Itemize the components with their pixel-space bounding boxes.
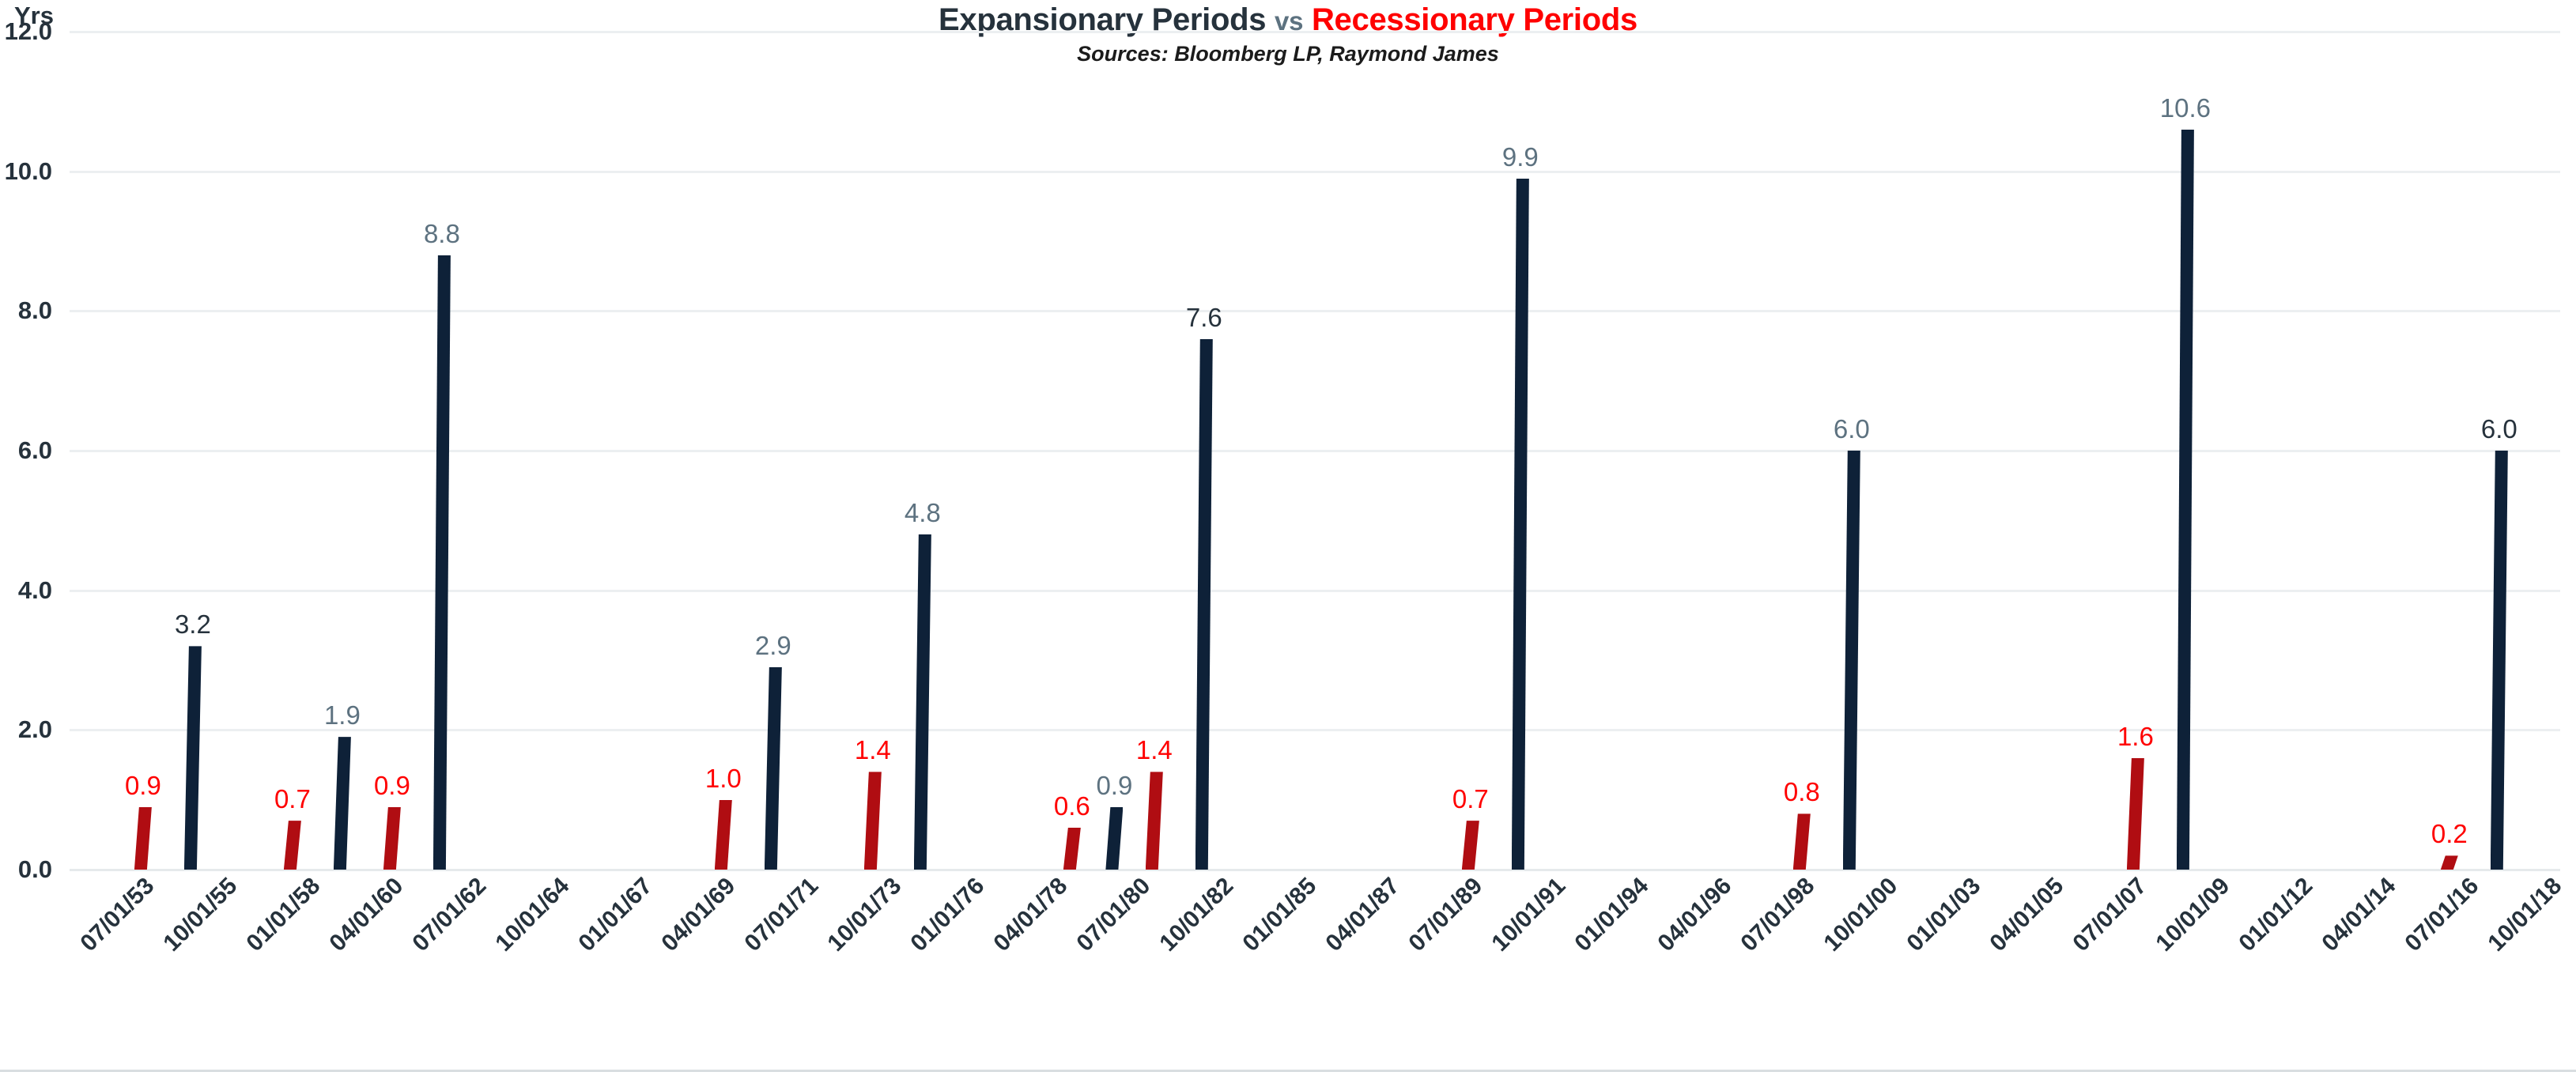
bar-expansion[interactable] bbox=[1105, 807, 1123, 870]
data-label-recession: 0.7 bbox=[274, 784, 311, 814]
x-axis-tick-label: 01/01/76 bbox=[906, 873, 991, 957]
x-axis-ticks: 07/01/5310/01/5501/01/5804/01/6007/01/62… bbox=[70, 873, 2560, 1070]
x-axis-tick-label: 04/01/78 bbox=[989, 873, 1074, 957]
data-label-recession: 1.4 bbox=[855, 735, 891, 765]
bar-expansion[interactable] bbox=[433, 255, 451, 870]
x-axis-tick-label: 01/01/58 bbox=[242, 873, 327, 957]
data-label-expansion: 1.9 bbox=[324, 700, 361, 730]
x-axis-tick-label: 01/01/12 bbox=[2234, 873, 2319, 957]
plot-area: 0.02.04.06.08.010.012.0 0.90.70.91.01.40… bbox=[70, 32, 2560, 870]
x-axis-tick-label: 07/01/98 bbox=[1736, 873, 1821, 957]
x-axis-tick-label: 07/01/16 bbox=[2400, 873, 2485, 957]
bar-expansion[interactable] bbox=[2491, 451, 2508, 870]
data-label-expansion: 0.9 bbox=[1096, 771, 1132, 801]
y-axis-tick-label: 12.0 bbox=[0, 17, 52, 46]
y-axis-tick-label: 0.0 bbox=[0, 855, 52, 884]
x-axis-tick-label: 10/01/00 bbox=[1819, 873, 1904, 957]
bar-expansion[interactable] bbox=[334, 737, 351, 870]
x-axis-tick-label: 04/01/96 bbox=[1653, 873, 1738, 957]
bar-recession[interactable] bbox=[1462, 821, 1479, 870]
bar-expansion[interactable] bbox=[184, 646, 202, 870]
data-label-expansion: 9.9 bbox=[1502, 142, 1539, 172]
bar-recession[interactable] bbox=[1146, 772, 1163, 870]
bar-recession[interactable] bbox=[284, 821, 301, 870]
bar-expansion[interactable] bbox=[1843, 451, 1860, 870]
bar-recession[interactable] bbox=[1063, 828, 1081, 870]
x-axis-tick-label: 04/01/05 bbox=[1985, 873, 2070, 957]
y-axis-tick-label: 10.0 bbox=[0, 157, 52, 186]
x-axis-tick-label: 07/01/80 bbox=[1072, 873, 1157, 957]
x-axis-tick-label: 01/01/94 bbox=[1570, 873, 1655, 957]
data-label-recession: 1.0 bbox=[705, 764, 742, 794]
data-label-recession: 0.9 bbox=[125, 771, 161, 801]
data-label-expansion: 10.6 bbox=[2160, 93, 2211, 123]
data-label-expansion: 7.6 bbox=[1186, 303, 1222, 333]
data-label-recession: 0.6 bbox=[1054, 791, 1090, 821]
data-label-recession: 0.8 bbox=[1784, 777, 1820, 807]
y-axis-tick-label: 6.0 bbox=[0, 436, 52, 465]
data-label-recession: 1.6 bbox=[2117, 722, 2154, 752]
bar-recession[interactable] bbox=[715, 800, 732, 870]
x-axis-tick-label: 10/01/64 bbox=[491, 873, 576, 957]
x-axis-tick-label: 04/01/87 bbox=[1321, 873, 1406, 957]
data-label-expansion: 6.0 bbox=[2481, 414, 2517, 444]
bar-expansion[interactable] bbox=[1195, 339, 1213, 870]
data-label-recession: 0.9 bbox=[374, 771, 410, 801]
x-axis-tick-label: 04/01/60 bbox=[325, 873, 410, 957]
x-axis-tick-label: 07/01/89 bbox=[1404, 873, 1489, 957]
y-axis-tick-label: 4.0 bbox=[0, 576, 52, 605]
x-axis-tick-label: 01/01/03 bbox=[1902, 873, 1987, 957]
x-axis-tick-label: 07/01/07 bbox=[2068, 873, 2153, 957]
data-label-expansion: 2.9 bbox=[755, 631, 791, 661]
data-label-expansion: 3.2 bbox=[175, 610, 211, 640]
y-axis-tick-label: 2.0 bbox=[0, 715, 52, 744]
x-axis-tick-label: 07/01/53 bbox=[76, 873, 161, 957]
bar-recession[interactable] bbox=[2127, 758, 2144, 870]
x-axis-tick-label: 04/01/69 bbox=[657, 873, 742, 957]
x-axis-tick-label: 07/01/71 bbox=[740, 873, 825, 957]
data-label-expansion: 8.8 bbox=[424, 219, 460, 249]
x-axis-tick-label: 01/01/67 bbox=[574, 873, 659, 957]
x-axis-tick-label: 10/01/09 bbox=[2151, 873, 2236, 957]
x-axis-tick-label: 07/01/62 bbox=[408, 873, 493, 957]
x-axis-tick-label: 10/01/55 bbox=[159, 873, 244, 957]
y-axis-tick-label: 8.0 bbox=[0, 296, 52, 325]
bar-expansion[interactable] bbox=[914, 534, 931, 870]
bar-expansion[interactable] bbox=[765, 667, 782, 870]
x-axis-tick-label: 10/01/91 bbox=[1487, 873, 1572, 957]
bar-recession[interactable] bbox=[383, 807, 401, 870]
bar-expansion[interactable] bbox=[1512, 179, 1529, 870]
data-label-expansion: 6.0 bbox=[1834, 414, 1870, 444]
x-axis-tick-label: 10/01/18 bbox=[2483, 873, 2568, 957]
data-label-recession: 1.4 bbox=[1136, 735, 1173, 765]
x-axis-tick-label: 01/01/85 bbox=[1238, 873, 1323, 957]
data-label-expansion: 4.8 bbox=[905, 498, 941, 528]
bar-expansion[interactable] bbox=[2177, 130, 2194, 870]
x-axis-tick-label: 10/01/73 bbox=[823, 873, 908, 957]
x-axis-tick-label: 04/01/14 bbox=[2317, 873, 2402, 957]
gridline bbox=[70, 31, 2560, 33]
bar-recession[interactable] bbox=[864, 772, 882, 870]
data-label-recession: 0.2 bbox=[2431, 819, 2468, 849]
x-axis-tick-label: 10/01/82 bbox=[1155, 873, 1240, 957]
bar-recession[interactable] bbox=[134, 807, 152, 870]
chart-container: Expansionary Periods vs Recessionary Per… bbox=[0, 0, 2576, 1072]
data-label-recession: 0.7 bbox=[1452, 784, 1489, 814]
bar-recession[interactable] bbox=[1793, 813, 1811, 870]
bar-recession[interactable] bbox=[2441, 855, 2458, 870]
